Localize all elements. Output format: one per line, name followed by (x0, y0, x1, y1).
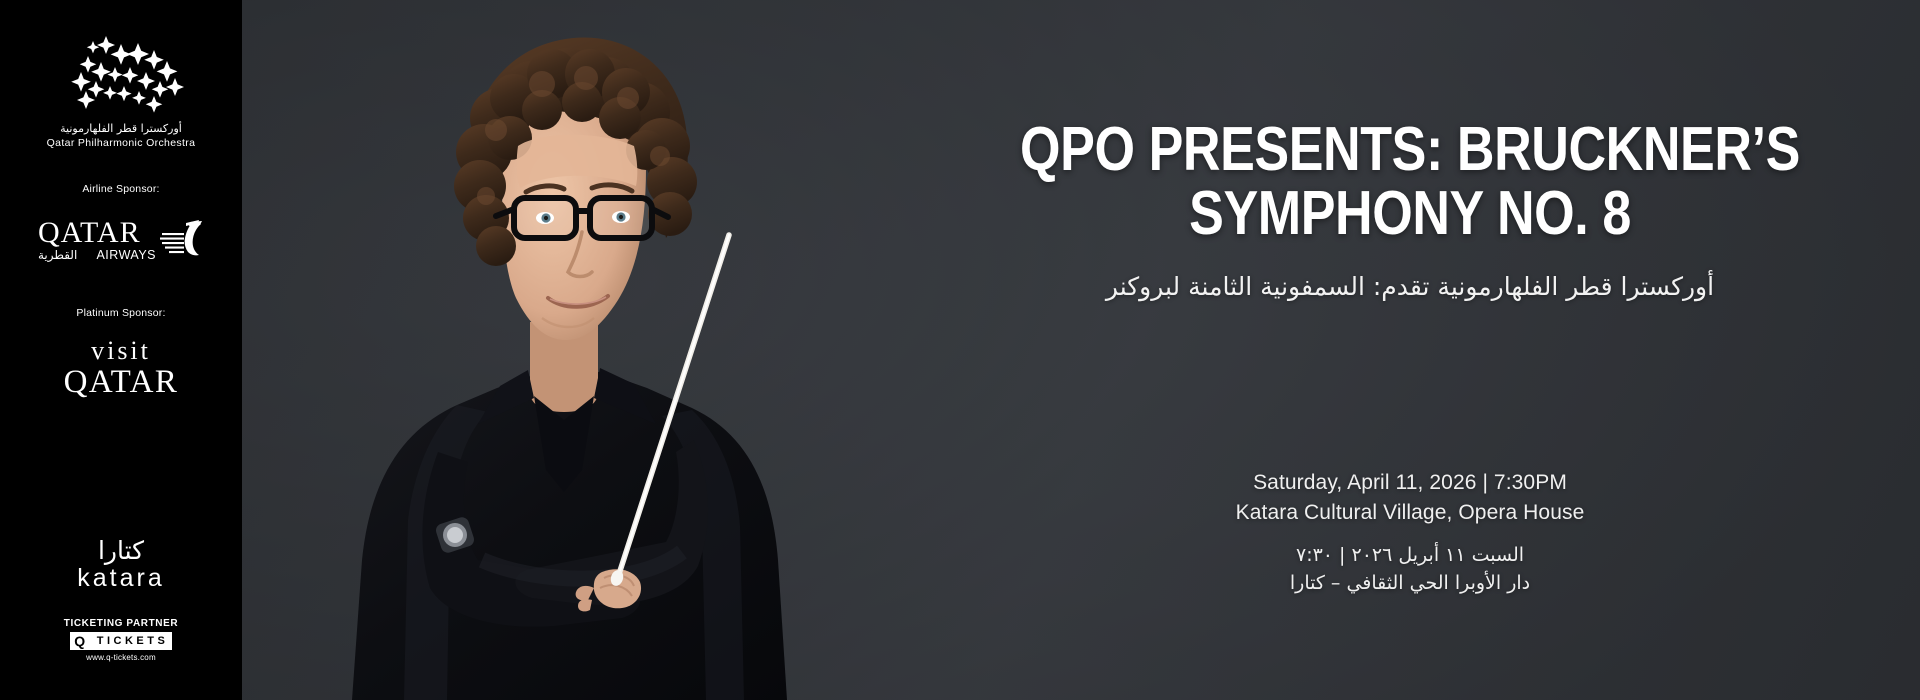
katara-arabic-wordmark: كتارا (0, 538, 242, 563)
event-details: Saturday, April 11, 2026 | 7:30PM Katara… (900, 468, 1920, 598)
qpo-arabic-name: أوركسترا قطر الفلهارمونية (0, 122, 242, 136)
q-tickets-q-badge: Q (70, 632, 90, 650)
event-title: QPO PRESENTS: BRUCKNER’S SYMPHONY NO. 8 (982, 118, 1839, 246)
platinum-sponsor-label: Platinum Sponsor: (0, 307, 242, 319)
qpo-english-name: Qatar Philharmonic Orchestra (0, 136, 242, 150)
event-banner: أوركسترا قطر الفلهارمونية Qatar Philharm… (0, 0, 1920, 700)
event-title-line-1: QPO PRESENTS: BRUCKNER’S (982, 118, 1839, 182)
event-date-english: Saturday, April 11, 2026 | 7:30PM (900, 468, 1920, 498)
ticketing-partner-label: TICKETING PARTNER (0, 618, 242, 629)
qatar-airways-logo[interactable]: QATAR القطرية AIRWAYS (0, 218, 242, 262)
qatar-airways-wordmark: QATAR (38, 218, 156, 248)
q-tickets-logo[interactable]: TICKETING PARTNER Q TICKETS www.q-ticket… (0, 618, 242, 662)
visit-qatar-logo[interactable]: visit QATAR (0, 338, 242, 399)
event-content: QPO PRESENTS: BRUCKNER’S SYMPHONY NO. 8 … (900, 0, 1920, 700)
visit-qatar-qatar-word: QATAR (0, 366, 242, 399)
q-tickets-url: www.q-tickets.com (0, 653, 242, 662)
qpo-logo[interactable]: أوركسترا قطر الفلهارمونية Qatar Philharm… (0, 34, 242, 150)
q-tickets-mark: Q TICKETS (70, 632, 173, 650)
event-venue-english: Katara Cultural Village, Opera House (900, 498, 1920, 528)
event-subtitle-arabic: أوركسترا قطر الفلهارمونية تقدم: السمفوني… (900, 272, 1920, 301)
event-title-line-2: SYMPHONY NO. 8 (982, 182, 1839, 246)
oryx-icon (160, 220, 204, 260)
visit-qatar-visit-word: visit (0, 338, 242, 364)
qatar-airways-airways: AIRWAYS (96, 249, 156, 262)
qatar-airways-arabic: القطرية (38, 249, 77, 261)
sponsor-rail: أوركسترا قطر الفلهارمونية Qatar Philharm… (0, 0, 242, 700)
star-cluster-arch-icon (46, 34, 196, 116)
conductor-portrait (242, 0, 902, 700)
katara-logo[interactable]: كتارا katara (0, 538, 242, 591)
event-venue-arabic: دار الأوبرا الحي الثقافي – كتارا (900, 569, 1920, 598)
airline-sponsor-label: Airline Sponsor: (0, 183, 242, 195)
katara-latin-wordmark: katara (0, 566, 242, 591)
q-tickets-word: TICKETS (90, 632, 173, 650)
event-date-arabic: السبت ١١ أبريل ٢٠٢٦ | ٧:٣٠ (900, 541, 1920, 570)
